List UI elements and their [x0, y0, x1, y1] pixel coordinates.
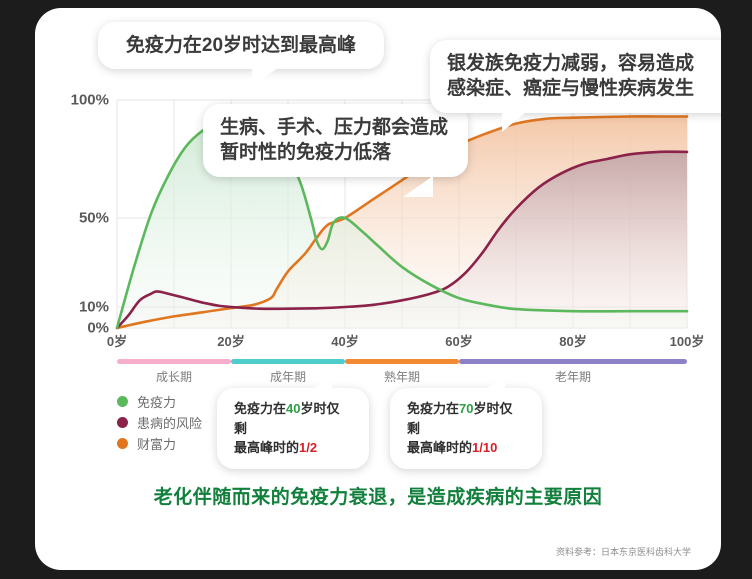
- life-period-bar: 成长期成年期熟年期老年期: [117, 359, 687, 387]
- highlight-number: 1/10: [472, 440, 497, 455]
- legend-item: 患病的风险: [117, 412, 202, 433]
- y-axis-tick: 50%: [79, 210, 109, 227]
- text-fragment: 免疫力在: [407, 401, 459, 416]
- callout-tenth: 免疫力在70岁时仅剩 最高峰时的1/10: [390, 388, 542, 469]
- period-label: 成年期: [270, 368, 306, 385]
- legend-color-swatch: [117, 396, 128, 407]
- callout-tenth-line2: 最高峰时的1/10: [407, 438, 525, 458]
- y-axis-tick: 10%: [79, 299, 109, 316]
- x-axis-tick: 40岁: [331, 331, 358, 350]
- callout-dip: 生病、手术、压力都会造成 暂时性的免疫力低落: [203, 104, 468, 177]
- y-axis-tick: 0%: [87, 320, 109, 337]
- callout-dip-line2: 暂时性的免疫力低落: [220, 140, 451, 165]
- y-axis-tick: 100%: [71, 92, 109, 109]
- legend-label: 财富力: [137, 434, 176, 453]
- legend-color-swatch: [117, 438, 128, 449]
- tagline: 老化伴随而来的免疫力衰退，是造成疾病的主要原因: [35, 482, 721, 509]
- highlight-number: 40: [286, 401, 300, 416]
- source-credit: 资料参考：日本东京医科齿科大学: [556, 545, 691, 558]
- text-fragment: 最高峰时的: [234, 440, 299, 455]
- period-label: 老年期: [555, 368, 591, 385]
- callout-tail: [313, 376, 332, 389]
- callout-silver: 银发族免疫力减弱，容易造成 感染症、癌症与慢性疾病发生: [430, 40, 721, 113]
- callout-dip-line1: 生病、手术、压力都会造成: [220, 115, 451, 140]
- legend-item: 免疫力: [117, 391, 202, 412]
- period-segment: [345, 359, 459, 364]
- legend-label: 患病的风险: [137, 413, 202, 432]
- x-axis-tick: 0岁: [107, 331, 127, 350]
- legend-item: 财富力: [117, 433, 202, 454]
- callout-half: 免疫力在40岁时仅剩 最高峰时的1/2: [217, 388, 369, 469]
- period-label: 熟年期: [384, 368, 420, 385]
- callout-tail: [502, 112, 526, 132]
- period-segment: [117, 359, 231, 364]
- chart-legend: 免疫力 患病的风险 财富力: [117, 391, 202, 454]
- x-axis-tick: 80岁: [559, 331, 586, 350]
- callout-half-line2: 最高峰时的1/2: [234, 438, 352, 458]
- callout-silver-line1: 银发族免疫力减弱，容易造成: [447, 51, 721, 76]
- period-label: 成长期: [156, 368, 192, 385]
- callout-tail: [486, 376, 505, 389]
- text-fragment: 最高峰时的: [407, 440, 472, 455]
- callout-silver-line2: 感染症、癌症与慢性疾病发生: [447, 76, 721, 101]
- legend-color-swatch: [117, 417, 128, 428]
- callout-tail: [252, 68, 278, 86]
- period-segment: [231, 359, 345, 364]
- infographic-card: 100%50%10%0% 0岁20岁40岁60岁80岁100岁 成长期成年期熟年…: [35, 8, 721, 570]
- callout-peak-text: 免疫力在20岁时达到最高峰: [126, 35, 356, 56]
- period-segment: [459, 359, 687, 364]
- callout-tail: [403, 176, 433, 197]
- highlight-number: 70: [459, 401, 473, 416]
- legend-label: 免疫力: [137, 392, 176, 411]
- callout-tenth-line1: 免疫力在70岁时仅剩: [407, 399, 525, 438]
- text-fragment: 免疫力在: [234, 401, 286, 416]
- x-axis-tick: 100岁: [670, 331, 705, 350]
- callout-half-line1: 免疫力在40岁时仅剩: [234, 399, 352, 438]
- x-axis-tick: 60岁: [445, 331, 472, 350]
- callout-peak: 免疫力在20岁时达到最高峰: [98, 22, 384, 69]
- x-axis-tick: 20岁: [217, 331, 244, 350]
- highlight-number: 1/2: [299, 440, 317, 455]
